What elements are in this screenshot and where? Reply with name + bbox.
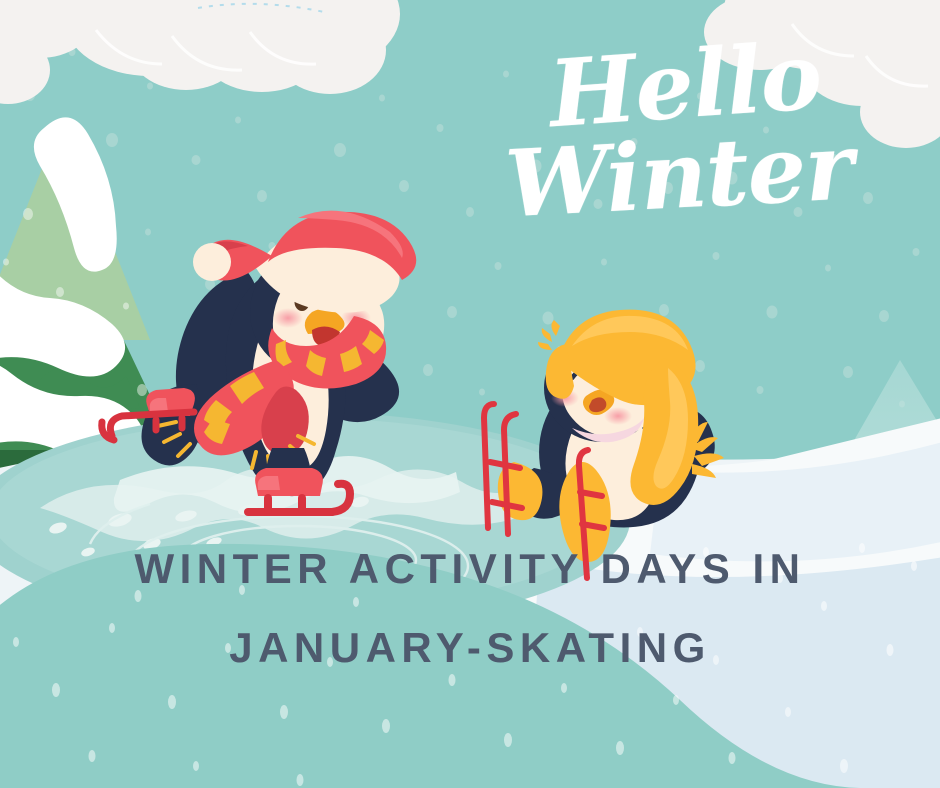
illustration-scene [0, 0, 940, 788]
winter-poster: Hello Winter WINTER ACTIVITY DAYS IN JAN… [0, 0, 940, 788]
hat-pompom [193, 243, 231, 281]
